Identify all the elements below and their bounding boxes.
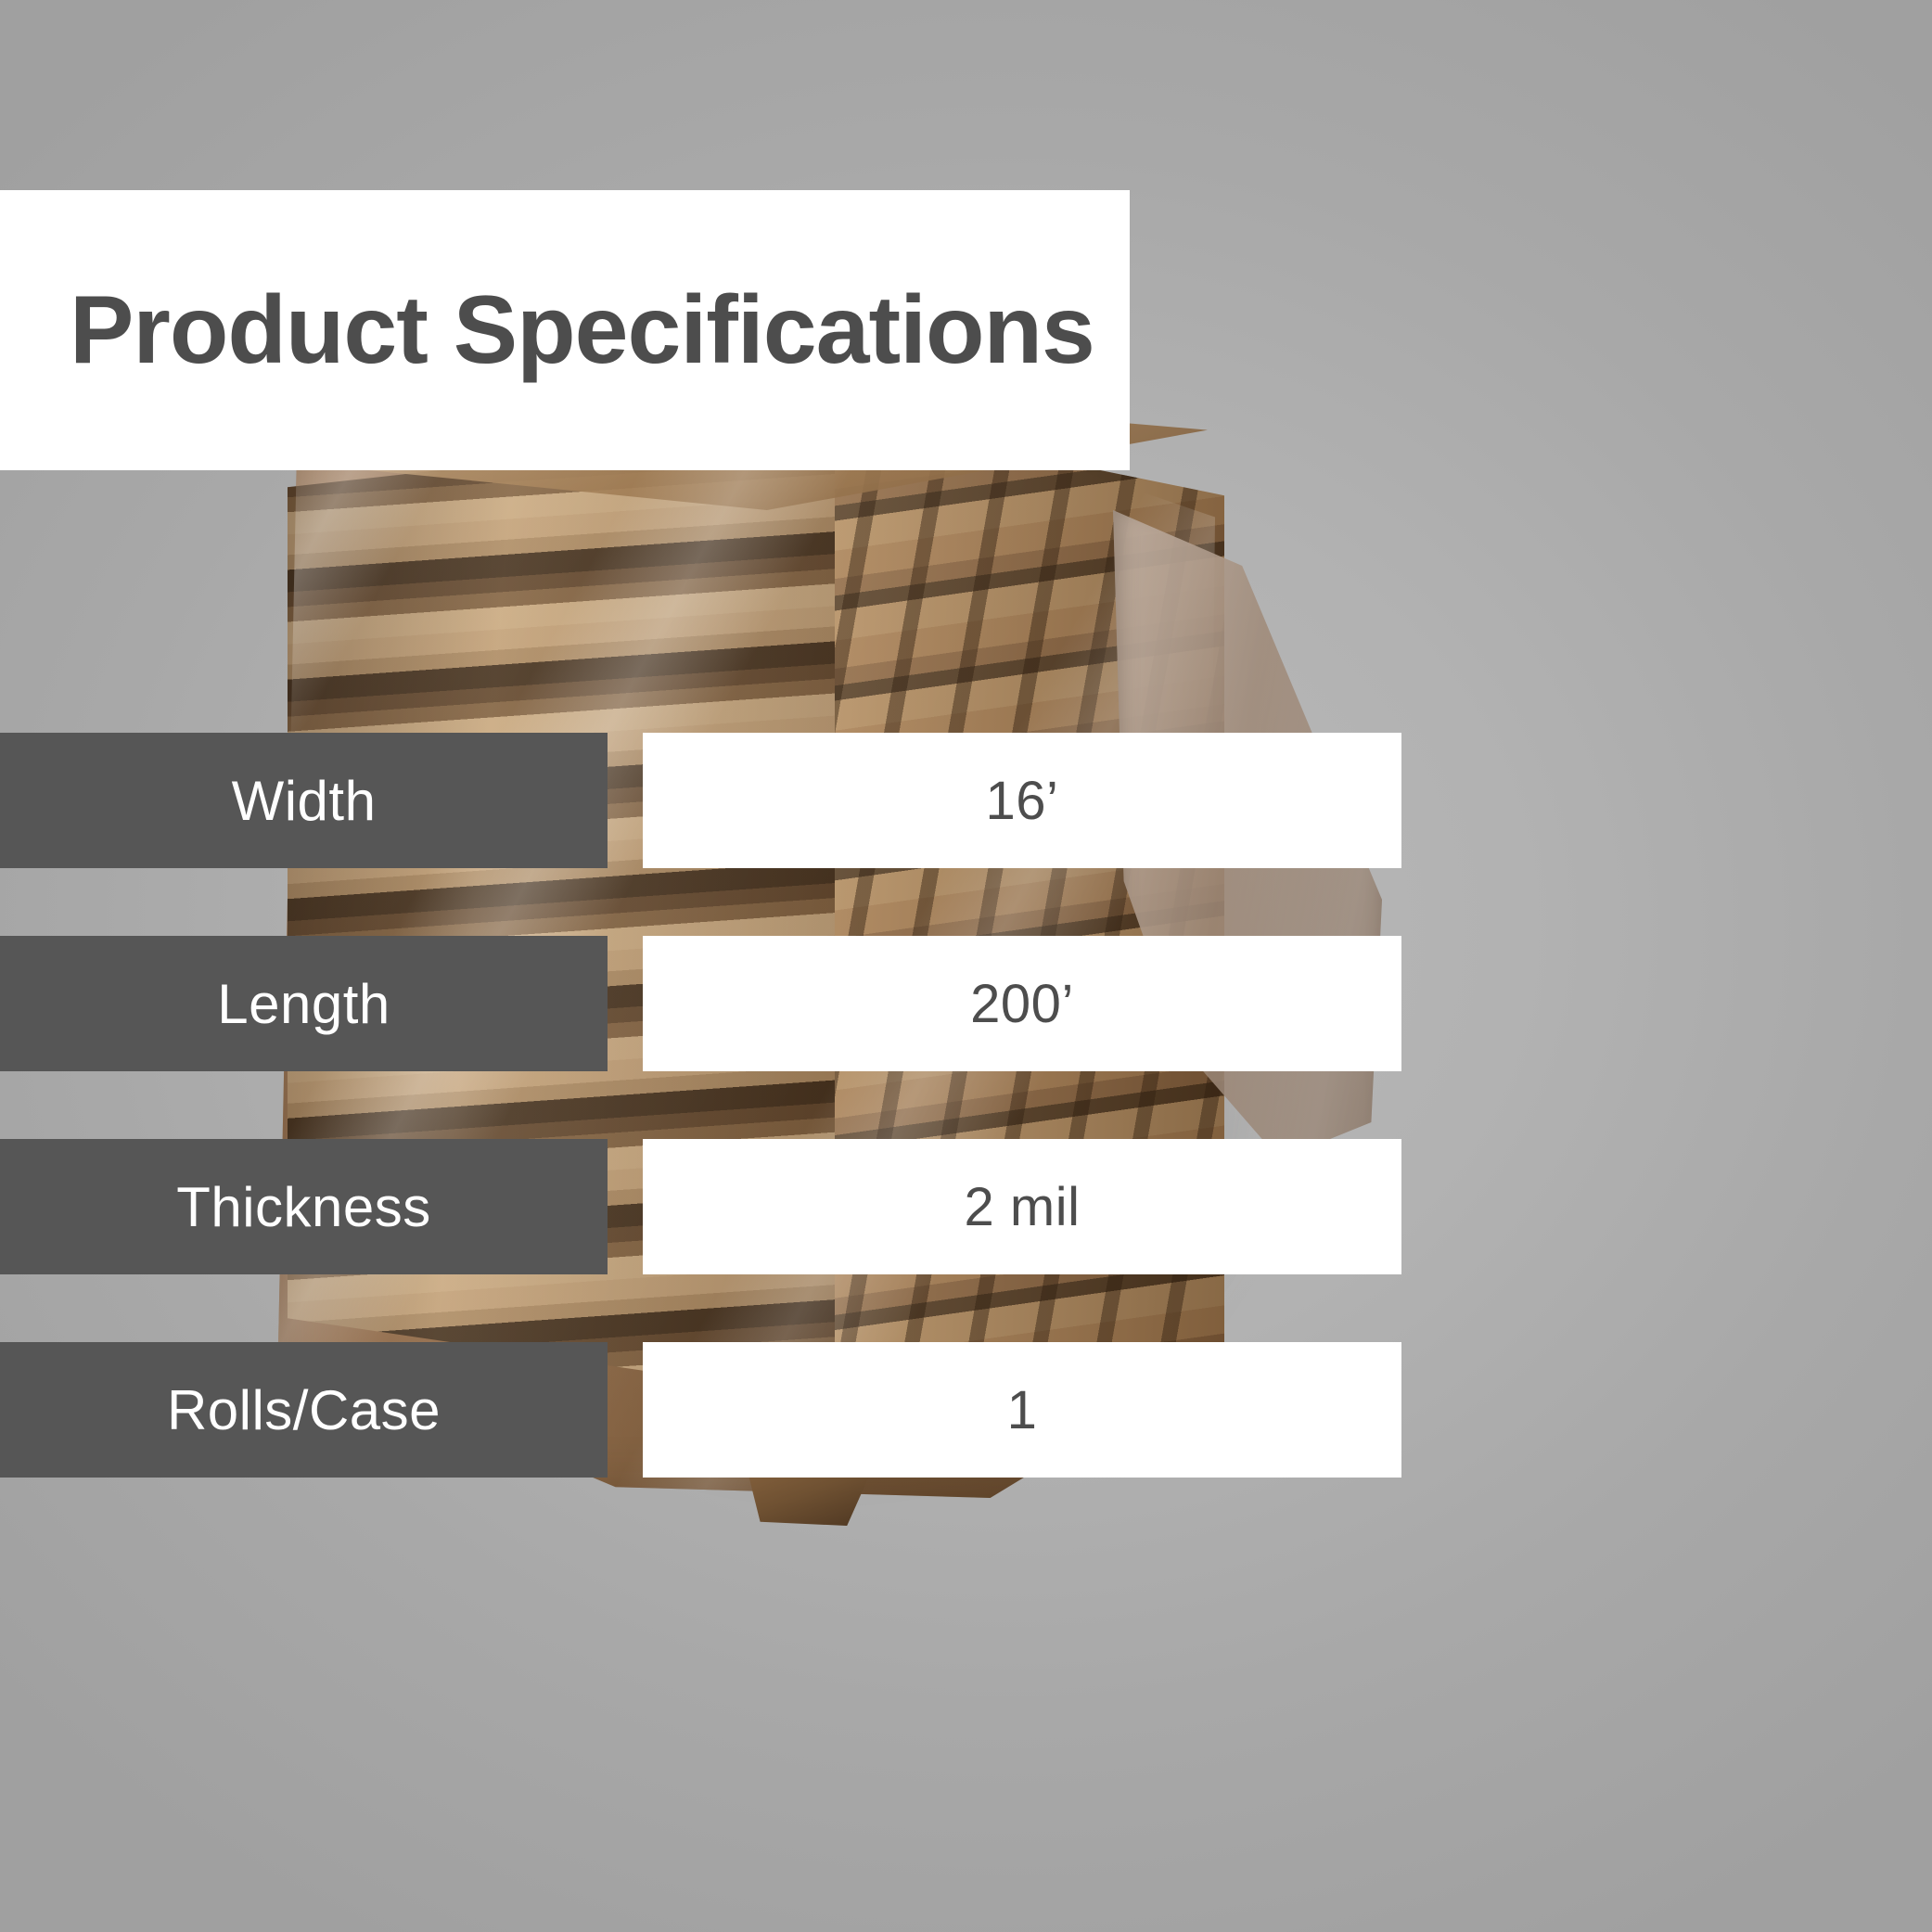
spec-value-width: 16’ [643,733,1401,868]
spec-label-text: Thickness [176,1175,431,1239]
specifications-table: Width 16’ Length 200’ Thickness 2 mil [0,733,1410,1478]
spec-value-text: 16’ [986,770,1059,832]
table-row: Thickness 2 mil [0,1139,1410,1274]
product-specifications-card: Product Specifications Width 16’ Length … [0,0,1932,1932]
spec-value-text: 1 [1007,1379,1038,1441]
spec-value-text: 2 mil [965,1176,1081,1238]
table-row: Length 200’ [0,936,1410,1071]
spec-label-length: Length [0,936,608,1071]
spec-label-text: Length [217,972,390,1036]
spec-value-thickness: 2 mil [643,1139,1401,1274]
spec-value-text: 200’ [970,973,1074,1035]
spec-label-thickness: Thickness [0,1139,608,1274]
spec-label-rolls-per-case: Rolls/Case [0,1342,608,1478]
spec-label-text: Rolls/Case [167,1378,441,1442]
table-row: Width 16’ [0,733,1410,868]
table-row: Rolls/Case 1 [0,1342,1410,1478]
spec-value-length: 200’ [643,936,1401,1071]
spec-label-text: Width [232,769,377,833]
page-title: Product Specifications [70,282,1094,378]
title-banner: Product Specifications [0,190,1130,470]
spec-value-rolls-per-case: 1 [643,1342,1401,1478]
spec-label-width: Width [0,733,608,868]
